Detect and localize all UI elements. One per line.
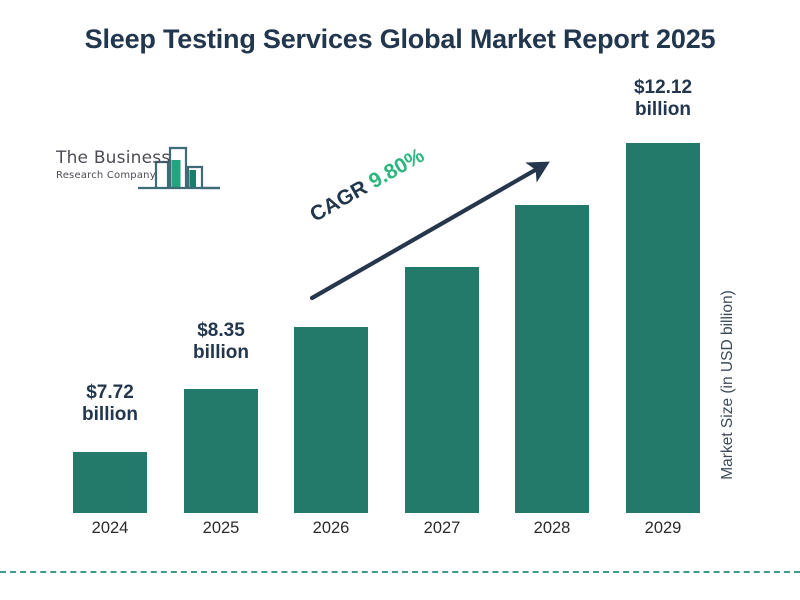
bar-2028[interactable] (515, 205, 589, 513)
value-amount-2029: $12.12 (607, 77, 719, 99)
x-label-2024: 2024 (60, 519, 160, 538)
value-unit-2025: billion (171, 342, 271, 364)
x-label-2027: 2027 (392, 519, 492, 538)
chart-canvas: Sleep Testing Services Global Market Rep… (0, 0, 800, 600)
value-label-2024: $7.72 billion (60, 382, 160, 427)
cagr-label: CAGR (306, 176, 371, 226)
bar-2027[interactable] (405, 267, 479, 513)
y-axis-title-wrap: Market Size (in USD billion) (700, 250, 756, 520)
value-amount-2024: $7.72 (60, 382, 160, 404)
cagr-annotation: CAGR 9.80% (306, 144, 429, 228)
y-axis-title: Market Size (in USD billion) (719, 250, 737, 520)
plot-area: $7.72 billion $8.35 billion $12.12 billi… (0, 0, 800, 600)
bar-2026[interactable] (294, 327, 368, 513)
value-unit-2024: billion (60, 404, 160, 426)
x-label-2026: 2026 (281, 519, 381, 538)
x-label-2029: 2029 (613, 519, 713, 538)
footer-divider (0, 571, 800, 573)
cagr-value: 9.80% (365, 144, 428, 193)
value-amount-2025: $8.35 (171, 320, 271, 342)
bar-2029[interactable] (626, 143, 700, 513)
value-unit-2029: billion (607, 99, 719, 121)
bar-2024[interactable] (73, 452, 147, 513)
value-label-2029: $12.12 billion (607, 77, 719, 122)
bar-2025[interactable] (184, 389, 258, 513)
x-label-2028: 2028 (502, 519, 602, 538)
value-label-2025: $8.35 billion (171, 320, 271, 365)
x-label-2025: 2025 (171, 519, 271, 538)
